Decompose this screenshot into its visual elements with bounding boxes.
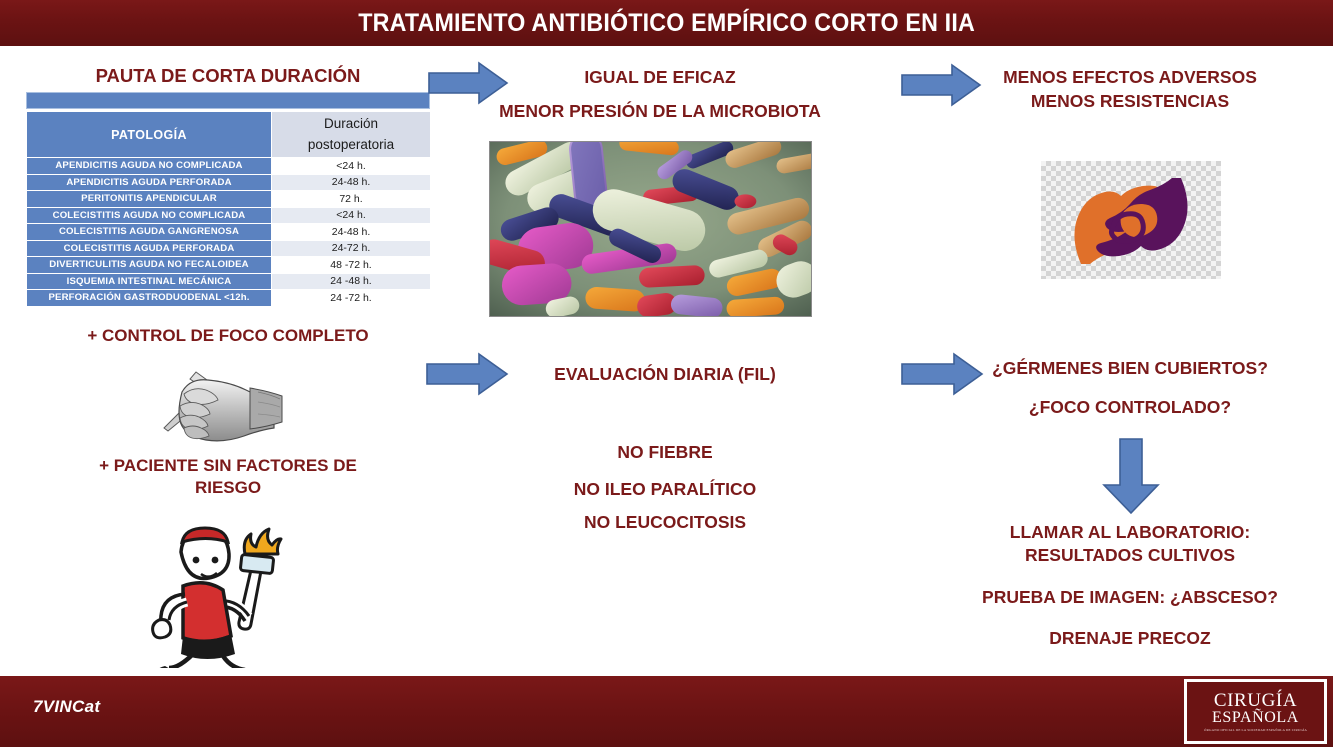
cell-pathology: APENDICITIS AGUDA NO COMPLICADA [27,158,272,175]
left-column-heading: PAUTA DE CORTA DURACIÓN [26,64,430,88]
scalpel-hand-illustration [146,358,298,446]
criterion-no-ileus: NO ILEO PARALÍTICO [470,478,860,501]
cell-duration: 24 -48 h. [272,273,431,290]
cell-pathology: ISQUEMIA INTESTINAL MECÁNICA [27,273,272,290]
action-call-lab: LLAMAR AL LABORATORIO: RESULTADOS CULTIV… [945,521,1315,567]
cell-pathology: COLECISTITIS AGUDA NO COMPLICADA [27,207,272,224]
table-header-row: PATOLOGÍA Duración postoperatoria [27,112,431,158]
daily-evaluation-title: EVALUACIÓN DIARIA (FIL) [470,363,860,386]
footer-bar [0,676,1333,747]
torch-runner-illustration [135,498,285,668]
question-source-controlled: ¿FOCO CONTROLADO? [945,396,1315,419]
cell-pathology: COLECISTITIS AGUDA PERFORADA [27,240,272,257]
cell-duration: <24 h. [272,158,431,175]
slide-canvas: TRATAMIENTO ANTIBIÓTICO EMPÍRICO CORTO E… [0,0,1333,747]
table-top-accent-bar [26,92,430,109]
cell-duration: 24-48 h. [272,174,431,191]
hands-holding-pill-logo [1051,168,1211,272]
logo-subtitle: ÓRGANO OFICIAL DE LA SOCIEDAD ESPAÑOLA D… [1204,728,1307,732]
cell-duration: 72 h. [272,191,431,208]
table-row: APENDICITIS AGUDA PERFORADA 24-48 h. [27,174,431,191]
question-germs-covered: ¿GÉRMENES BIEN CUBIERTOS? [945,357,1315,380]
criterion-no-fever: NO FIEBRE [470,441,860,464]
cell-pathology: PERITONITIS APENDICULAR [27,191,272,208]
middle-headline-line1: IGUAL DE EFICAZ [470,66,850,89]
table-row: PERFORACIÓN GASTRODUODENAL <12h. 24 -72 … [27,290,431,307]
table-row: PERITONITIS APENDICULAR 72 h. [27,191,431,208]
logo-line-cirugia: CIRUGÍA [1214,691,1297,710]
right-benefit-line1: MENOS EFECTOS ADVERSOS [955,66,1305,89]
note-complete-source-control: + CONTROL DE FOCO COMPLETO [26,325,430,347]
short-course-table-wrapper: PATOLOGÍA Duración postoperatoria APENDI… [26,92,430,307]
criterion-no-leukocytosis: NO LEUCOCITOSIS [470,511,860,534]
table-row: APENDICITIS AGUDA NO COMPLICADA <24 h. [27,158,431,175]
middle-headline-line2: MENOR PRESIÓN DE LA MICROBIOTA [462,100,858,123]
table-row: COLECISTITIS AGUDA NO COMPLICADA <24 h. [27,207,431,224]
cell-duration: 24-72 h. [272,240,431,257]
column-header-duration-line2: postoperatoria [272,135,430,155]
table-row: COLECISTITIS AGUDA GANGRENOSA 24-48 h. [27,224,431,241]
cell-pathology: PERFORACIÓN GASTRODUODENAL <12h. [27,290,272,307]
cell-pathology: DIVERTICULITIS AGUDA NO FECALOIDEA [27,257,272,274]
cell-duration: 48 -72 h. [272,257,431,274]
short-course-table: PATOLOGÍA Duración postoperatoria APENDI… [26,111,431,307]
table-row: DIVERTICULITIS AGUDA NO FECALOIDEA 48 -7… [27,257,431,274]
column-header-duration: Duración postoperatoria [272,112,431,158]
arrow-down-icon [1098,437,1164,515]
cell-duration: 24 -72 h. [272,290,431,307]
cirugia-espanola-logo: CIRUGÍA ESPAÑOLA ÓRGANO OFICIAL DE LA SO… [1184,679,1327,744]
column-header-duration-line1: Duración [272,114,430,134]
cell-pathology: COLECISTITIS AGUDA GANGRENOSA [27,224,272,241]
action-early-drainage: DRENAJE PRECOZ [945,627,1315,650]
cell-duration: 24-48 h. [272,224,431,241]
table-row: COLECISTITIS AGUDA PERFORADA 24-72 h. [27,240,431,257]
slide-title: TRATAMIENTO ANTIBIÓTICO EMPÍRICO CORTO E… [358,9,975,38]
slide-title-bar: TRATAMIENTO ANTIBIÓTICO EMPÍRICO CORTO E… [0,0,1333,46]
microbiota-image [489,141,812,317]
cell-duration: <24 h. [272,207,431,224]
note-no-risk-factors: + PACIENTE SIN FACTORES DE RIESGO [26,455,430,500]
column-header-pathology: PATOLOGÍA [27,112,272,158]
right-benefit-line2: MENOS RESISTENCIAS [955,90,1305,113]
table-body: APENDICITIS AGUDA NO COMPLICADA <24 h. A… [27,158,431,307]
logo-line-espanola: ESPAÑOLA [1212,710,1299,727]
action-imaging-abscess: PRUEBA DE IMAGEN: ¿ABSCESO? [945,586,1315,609]
cell-pathology: APENDICITIS AGUDA PERFORADA [27,174,272,191]
footer-label: 7VINCat [33,697,100,717]
table-row: ISQUEMIA INTESTINAL MECÁNICA 24 -48 h. [27,273,431,290]
